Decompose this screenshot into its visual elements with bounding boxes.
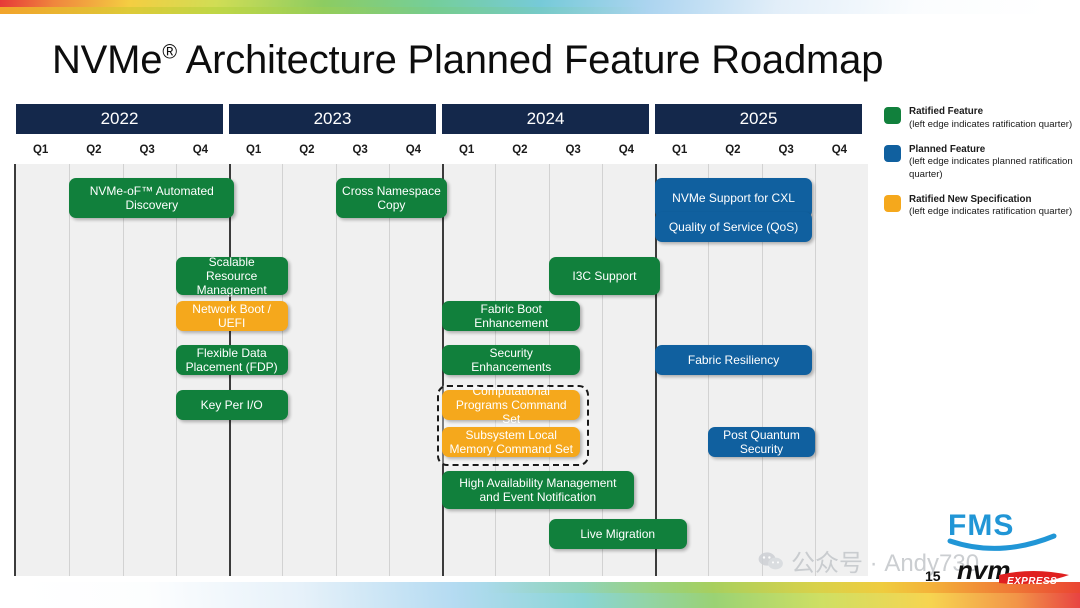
gridline: [69, 164, 70, 576]
quarter-label-2023-Q4: Q4: [387, 140, 440, 160]
roadmap-chart: 2022202320242025 Q1Q2Q3Q4Q1Q2Q3Q4Q1Q2Q3Q…: [14, 104, 866, 576]
legend-text: Ratified New Specification(left edge ind…: [909, 194, 1072, 219]
wechat-icon: [758, 551, 784, 571]
feature-box[interactable]: Network Boot / UEFI: [176, 301, 288, 331]
legend-text: Ratified Feature(left edge indicates rat…: [909, 106, 1072, 131]
quarter-label-2024-Q3: Q3: [547, 140, 600, 160]
quarter-label-2024-Q4: Q4: [600, 140, 653, 160]
svg-text:FMS: FMS: [948, 509, 1014, 542]
legend: Ratified Feature(left edge indicates rat…: [884, 106, 1074, 232]
quarter-header-row: Q1Q2Q3Q4Q1Q2Q3Q4Q1Q2Q3Q4Q1Q2Q3Q4: [14, 140, 866, 160]
gridline: [815, 164, 816, 576]
gridline: [602, 164, 603, 576]
top-rainbow-strip: [0, 0, 1080, 14]
feature-box[interactable]: Fabric Resiliency: [655, 345, 812, 375]
quarter-label-2025-Q1: Q1: [653, 140, 706, 160]
feature-box[interactable]: Quality of Service (QoS): [655, 212, 812, 242]
feature-box[interactable]: NVMe-oF™ Automated Discovery: [69, 178, 234, 218]
wechat-watermark: 公众号 · Andy730: [758, 543, 979, 578]
bottom-rainbow-strip: [0, 582, 1080, 608]
legend-note: (left edge indicates ratification quarte…: [909, 119, 1072, 130]
page-title: NVMe® Architecture Planned Feature Roadm…: [52, 38, 883, 83]
feature-box[interactable]: Fabric Boot Enhancement: [442, 301, 580, 331]
feature-box[interactable]: I3C Support: [549, 257, 661, 295]
feature-box[interactable]: Flexible Data Placement (FDP): [176, 345, 288, 375]
page-title-main: NVMe: [52, 38, 162, 82]
legend-swatch-orange: [884, 195, 901, 212]
feature-box[interactable]: Live Migration: [549, 519, 687, 549]
feature-box[interactable]: High Availability Management and Event N…: [442, 471, 634, 509]
roadmap-plot-area: NVMe-oF™ Automated DiscoveryCross Namesp…: [14, 164, 868, 576]
nvm-express-logo: nvm EXPRESS: [955, 553, 1073, 595]
gridline: [336, 164, 337, 576]
year-label-2024: 2024: [442, 104, 649, 134]
quarter-label-2023-Q1: Q1: [227, 140, 280, 160]
feature-box[interactable]: Post Quantum Security: [708, 427, 815, 457]
page-number: 15: [925, 568, 941, 584]
quarter-label-2025-Q4: Q4: [813, 140, 866, 160]
legend-item: Ratified Feature(left edge indicates rat…: [884, 106, 1074, 131]
quarter-label-2022-Q1: Q1: [14, 140, 67, 160]
feature-box[interactable]: Subsystem Local Memory Command Set: [442, 427, 580, 457]
quarter-label-2025-Q3: Q3: [760, 140, 813, 160]
page-title-rest: Architecture Planned Feature Roadmap: [177, 38, 883, 82]
legend-title: Ratified Feature: [909, 106, 1072, 119]
legend-title: Ratified New Specification: [909, 194, 1072, 207]
legend-swatch-blue: [884, 145, 901, 162]
legend-note: (left edge indicates planned ratificatio…: [909, 156, 1073, 179]
gridline: [389, 164, 390, 576]
quarter-label-2025-Q2: Q2: [706, 140, 759, 160]
legend-title: Planned Feature: [909, 144, 1074, 157]
legend-text: Planned Feature(left edge indicates plan…: [909, 144, 1074, 181]
feature-box[interactable]: Security Enhancements: [442, 345, 580, 375]
legend-swatch-green: [884, 107, 901, 124]
quarter-label-2024-Q2: Q2: [493, 140, 546, 160]
watermark-text: 公众号 · Andy730: [791, 543, 979, 578]
quarter-label-2024-Q1: Q1: [440, 140, 493, 160]
feature-box[interactable]: Scalable Resource Management: [176, 257, 288, 295]
quarter-label-2023-Q2: Q2: [280, 140, 333, 160]
legend-item: Ratified New Specification(left edge ind…: [884, 194, 1074, 219]
legend-item: Planned Feature(left edge indicates plan…: [884, 144, 1074, 181]
quarter-label-2022-Q2: Q2: [67, 140, 120, 160]
registered-mark-icon: ®: [162, 42, 177, 64]
year-header-row: 2022202320242025: [14, 104, 866, 134]
feature-box[interactable]: Cross Namespace Copy: [336, 178, 448, 218]
gridline: [123, 164, 124, 576]
quarter-label-2022-Q4: Q4: [174, 140, 227, 160]
quarter-label-2023-Q3: Q3: [334, 140, 387, 160]
quarter-label-2022-Q3: Q3: [121, 140, 174, 160]
legend-note: (left edge indicates ratification quarte…: [909, 206, 1072, 217]
year-label-2023: 2023: [229, 104, 436, 134]
year-label-2025: 2025: [655, 104, 862, 134]
year-label-2022: 2022: [16, 104, 223, 134]
svg-text:EXPRESS: EXPRESS: [1007, 576, 1057, 587]
feature-box[interactable]: Key Per I/O: [176, 390, 288, 420]
feature-box[interactable]: Computational Programs Command Set: [442, 390, 580, 420]
